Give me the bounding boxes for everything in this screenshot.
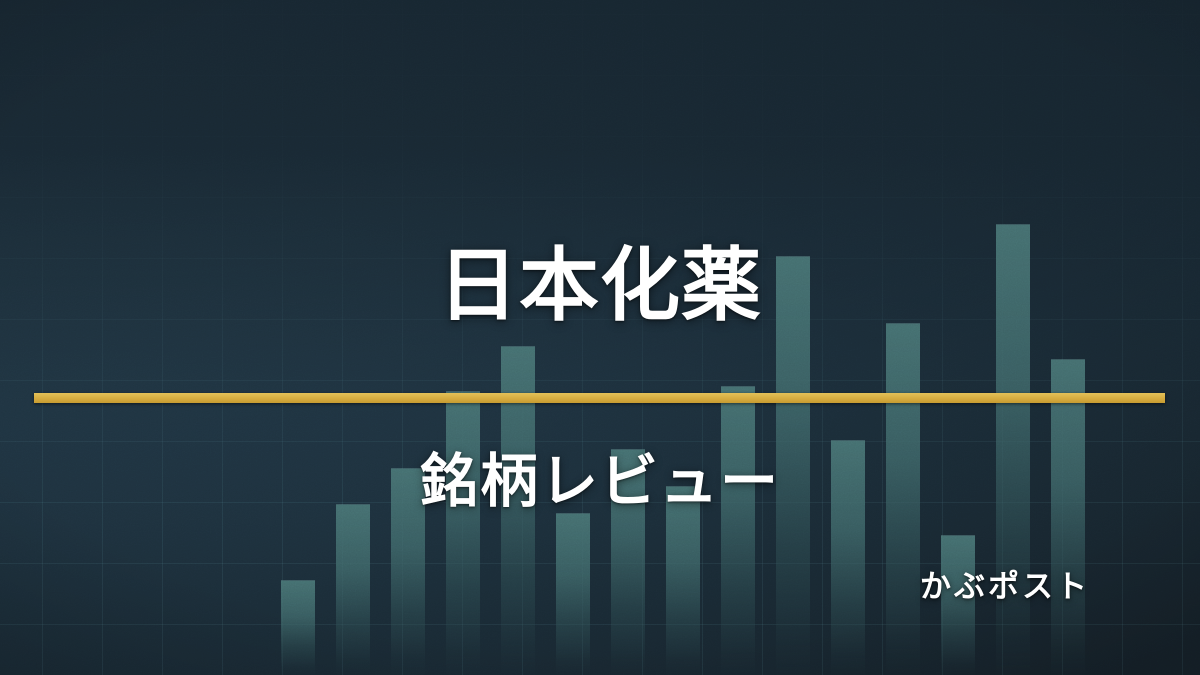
brand-watermark: かぶポスト xyxy=(920,572,1090,603)
page-title: 日本化薬 xyxy=(0,246,1200,326)
page-subtitle: 銘柄レビュー xyxy=(0,452,1200,510)
title-slide: 日本化薬 銘柄レビュー かぶポスト xyxy=(0,0,1200,675)
slide-content: 日本化薬 銘柄レビュー かぶポスト xyxy=(0,0,1200,675)
gold-divider-rule xyxy=(34,393,1165,403)
